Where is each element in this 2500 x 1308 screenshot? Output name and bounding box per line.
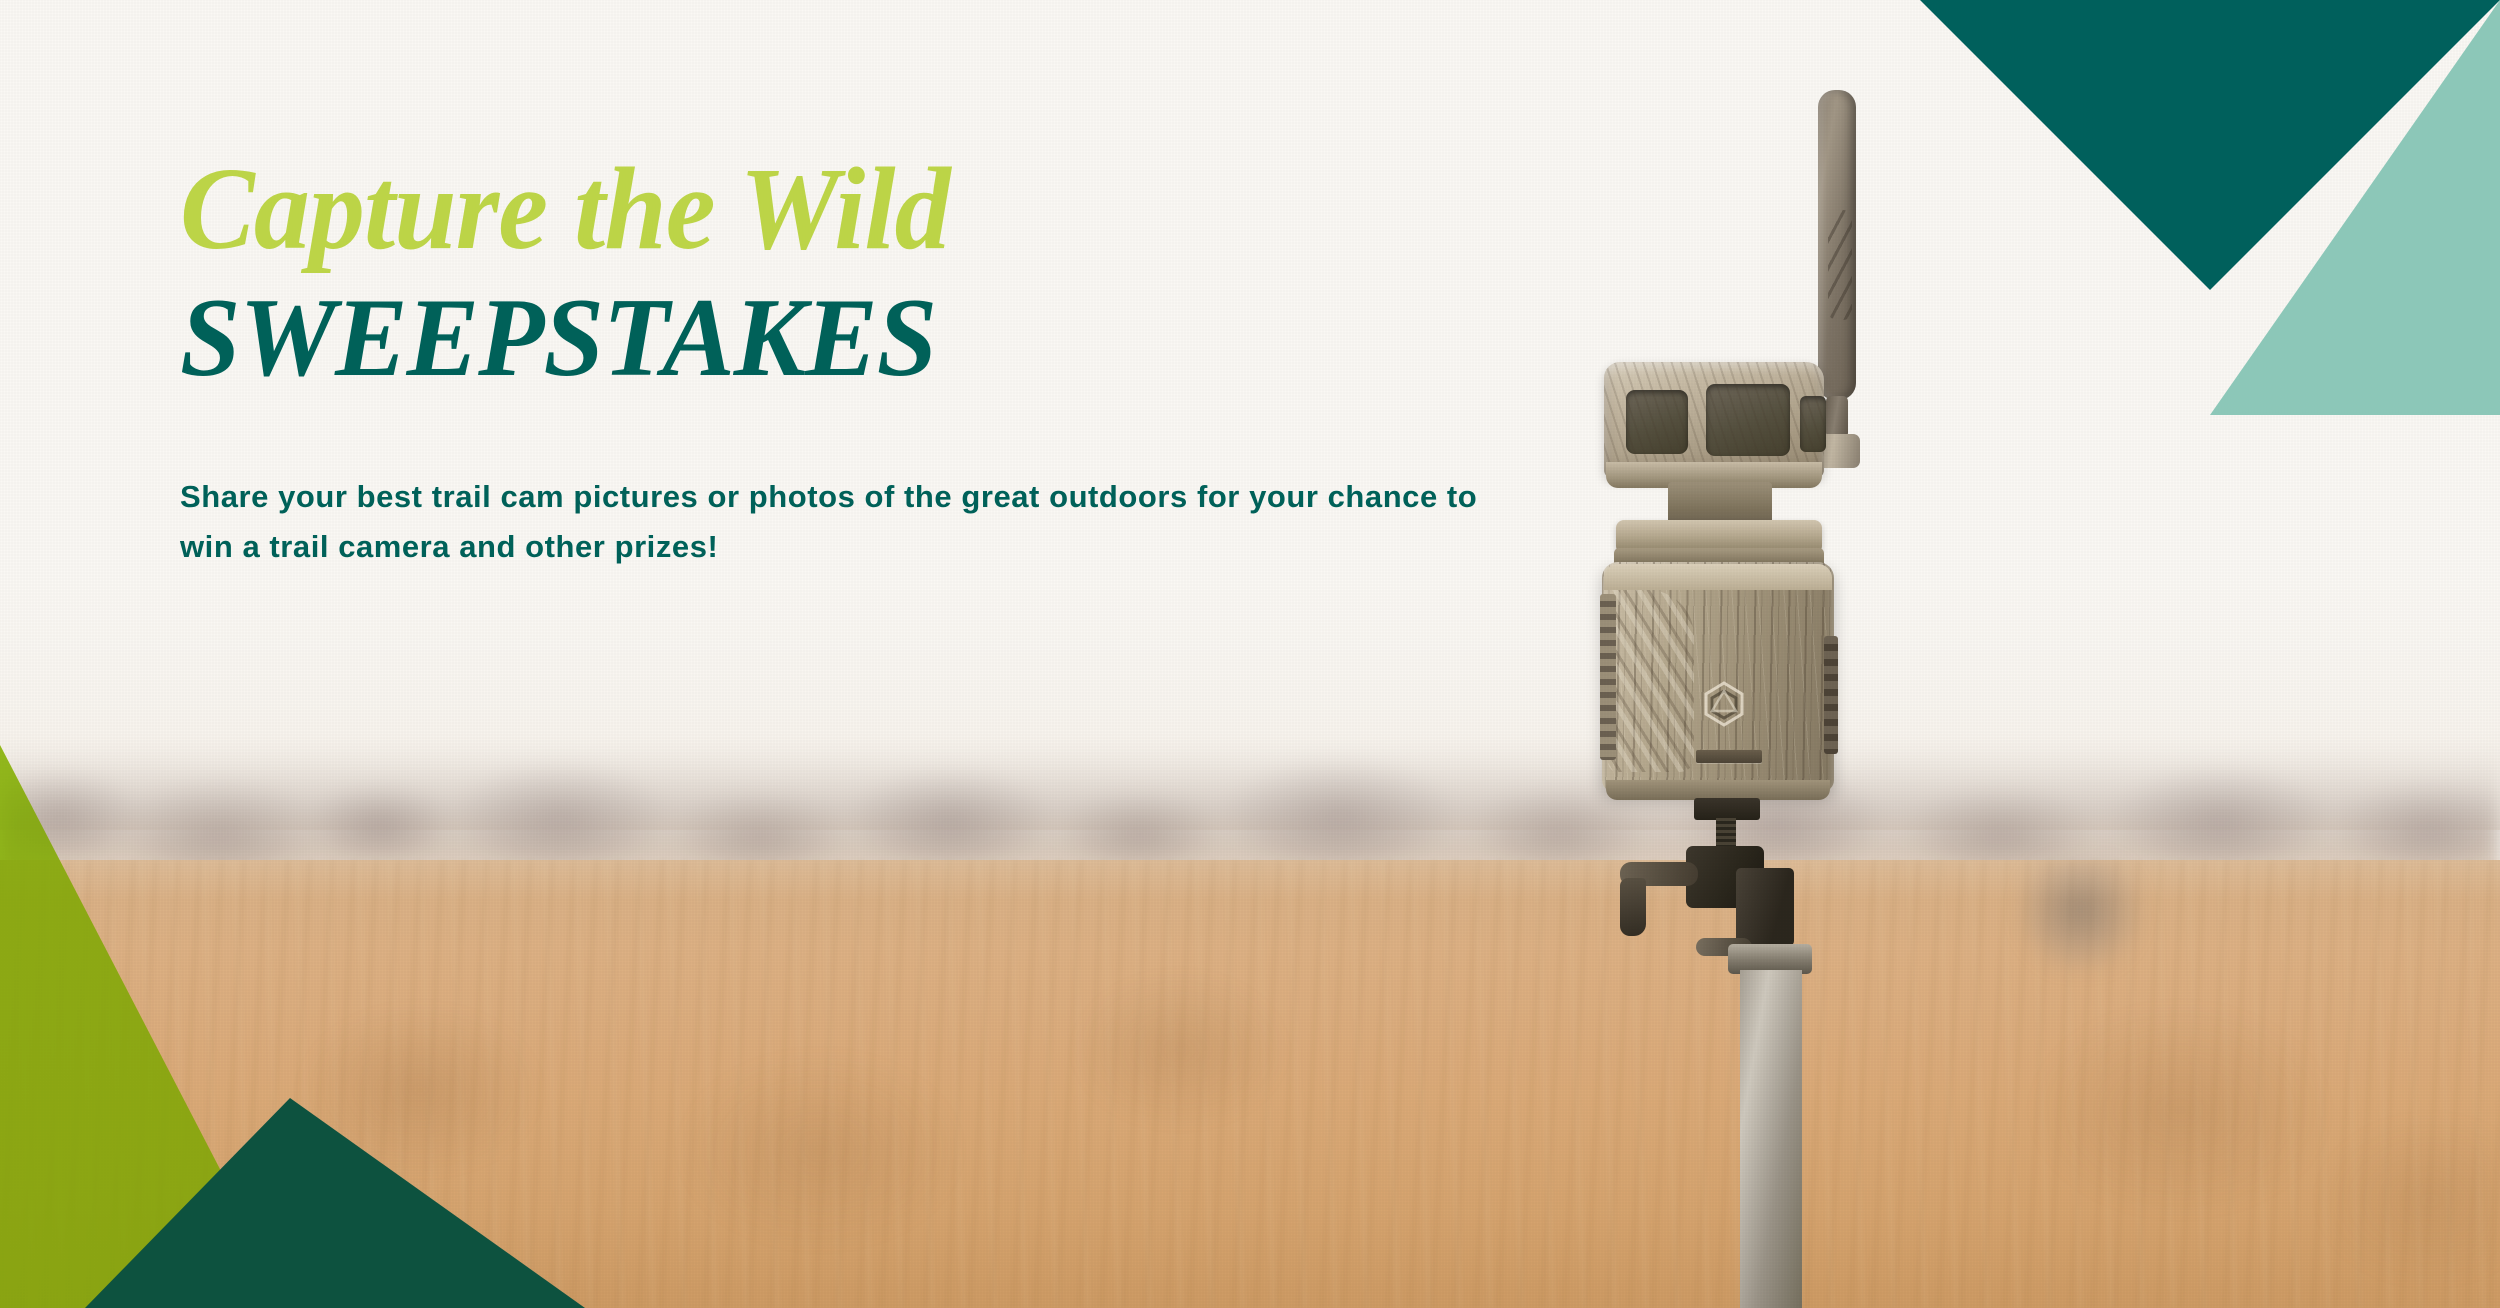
hero-subcopy: Share your best trail cam pictures or ph… [180,472,1500,572]
sweepstakes-hero-banner: Capture the Wild SWEEPSTAKES Share your … [0,0,2500,1308]
trail-camera-photo [1560,90,1920,1308]
body-top-ridge [1604,564,1832,590]
ir-window-right [1800,396,1826,452]
brand-label-plate [1696,750,1762,763]
antenna-texture [1828,210,1852,320]
ir-window-left [1626,390,1688,454]
tripod-clamp-column [1736,868,1794,946]
body-hinge [1600,594,1616,760]
hero-copy-block: Capture the Wild SWEEPSTAKES Share your … [180,150,1580,572]
ir-window-center [1706,384,1790,456]
ball-head-lever-tip [1620,878,1646,936]
tripod-pole [1740,970,1802,1308]
antenna-base [1826,396,1848,438]
tripod-mount-plate [1694,798,1760,820]
headline-line-1: Capture the Wild [180,150,1510,268]
headline-line-2: SWEEPSTAKES [180,282,1538,394]
body-latch [1824,636,1838,754]
body-bottom-edge [1606,780,1830,800]
aperture-logo-icon [1700,680,1748,728]
